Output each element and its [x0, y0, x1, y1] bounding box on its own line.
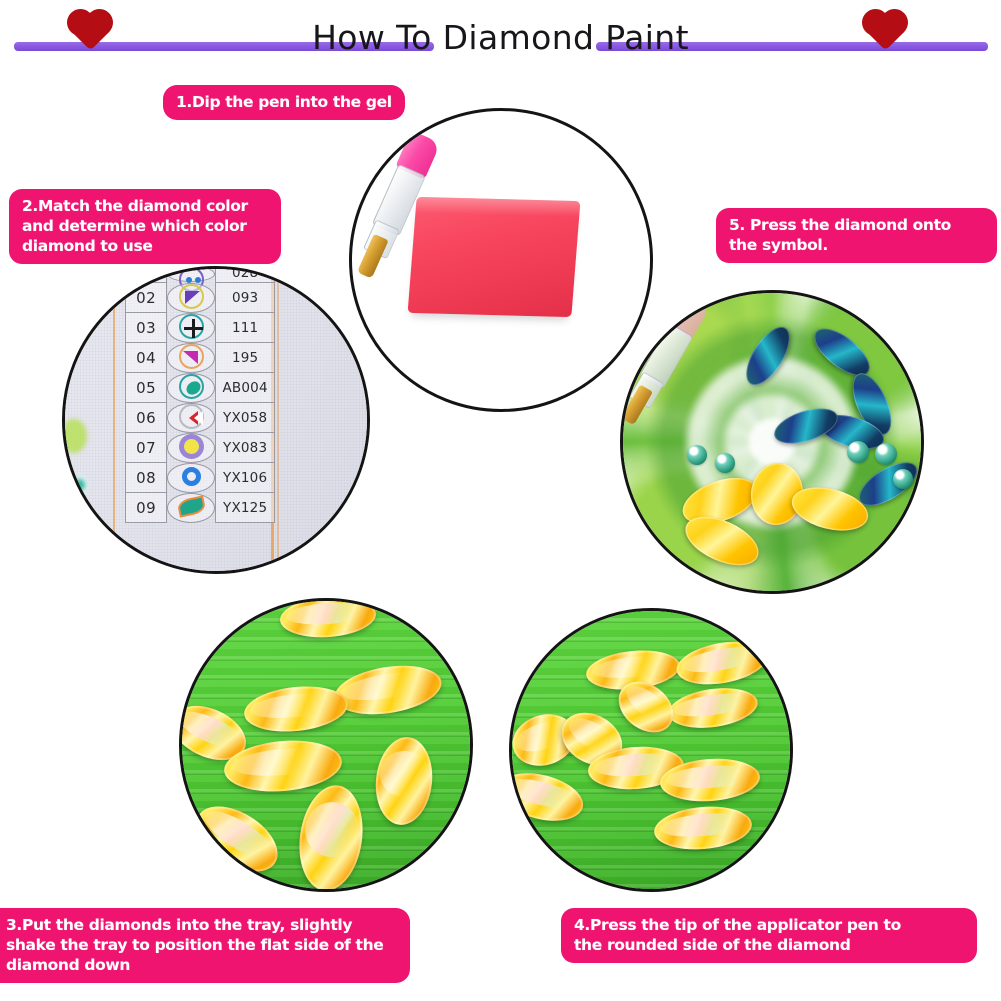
purple-triangle-icon: [179, 284, 204, 309]
table-row: 02 093: [126, 283, 275, 313]
row-number: 09: [126, 493, 167, 523]
chart-margin-line-right-2: [277, 269, 279, 571]
table-row: 03 111: [126, 313, 275, 343]
table-row: 01 028: [126, 266, 275, 283]
teal-capsule-icon: [179, 374, 204, 399]
canvas-teal-symbol: [69, 475, 89, 495]
header: How To Diamond Paint: [0, 0, 1001, 78]
round-bead: [875, 443, 897, 465]
row-symbol: [167, 283, 215, 313]
row-code: YX058: [216, 403, 275, 433]
row-code: 195: [216, 343, 275, 373]
row-code: YX083: [216, 433, 275, 463]
round-bead: [847, 441, 869, 463]
row-code: YX125: [216, 493, 275, 523]
row-symbol: [167, 373, 215, 403]
round-bead: [893, 469, 913, 489]
canvas-green-smudge: [62, 419, 87, 453]
pink-gel-pad: [408, 197, 581, 317]
step-3-label: 3.Put the diamonds into the tray, slight…: [0, 908, 410, 983]
row-code: AB004: [216, 373, 275, 403]
step-5-label: 5. Press the diamond onto the symbol.: [716, 208, 997, 263]
table-row: 07 YX083: [126, 433, 275, 463]
magenta-triangle-icon: [179, 344, 204, 369]
row-number: 07: [126, 433, 167, 463]
round-bead: [687, 445, 707, 465]
row-number: 03: [126, 313, 167, 343]
red-left-arrow-icon: [179, 404, 204, 429]
row-code: YX106: [216, 463, 275, 493]
step-2-photo-circle: 01 028 02 093 03: [62, 266, 370, 574]
row-number: 06: [126, 403, 167, 433]
row-number: 01: [126, 266, 167, 283]
row-number: 05: [126, 373, 167, 403]
table-row: 09 YX125: [126, 493, 275, 523]
color-code-table: 01 028 02 093 03: [125, 266, 275, 523]
page-title: How To Diamond Paint: [0, 18, 1001, 57]
row-code: 028: [216, 266, 275, 283]
table-row: 04 195: [126, 343, 275, 373]
blue-ring-icon: [179, 464, 204, 489]
row-symbol: [167, 403, 215, 433]
yellow-disc-icon: [179, 434, 204, 459]
round-bead: [715, 453, 735, 473]
chart-margin-line-left: [113, 269, 115, 571]
row-number: 08: [126, 463, 167, 493]
row-symbol: [167, 433, 215, 463]
plus-cross-icon: [179, 314, 204, 339]
table-row: 06 YX058: [126, 403, 275, 433]
row-symbol: [167, 313, 215, 343]
step-3-photo-circle: [179, 598, 473, 892]
step-5-photo-circle: [620, 290, 924, 594]
row-code: 111: [216, 313, 275, 343]
row-symbol: [167, 343, 215, 373]
row-number: 04: [126, 343, 167, 373]
table-row: 08 YX106: [126, 463, 275, 493]
step-1-label: 1.Dip the pen into the gel: [163, 85, 405, 120]
table-row: 05 AB004: [126, 373, 275, 403]
row-code: 093: [216, 283, 275, 313]
teal-leaf-icon: [179, 494, 204, 519]
step-2-label: 2.Match the diamond color and determine …: [9, 189, 281, 264]
row-symbol: [167, 266, 215, 282]
row-number: 02: [126, 283, 167, 313]
row-symbol: [167, 463, 215, 493]
row-symbol: [167, 493, 215, 523]
step-4-label: 4.Press the tip of the applicator pen to…: [561, 908, 977, 963]
step-4-photo-circle: [509, 608, 793, 892]
step-1-photo-circle: [349, 108, 653, 412]
infographic-page: How To Diamond Paint 1.Dip the pen into …: [0, 0, 1001, 1001]
